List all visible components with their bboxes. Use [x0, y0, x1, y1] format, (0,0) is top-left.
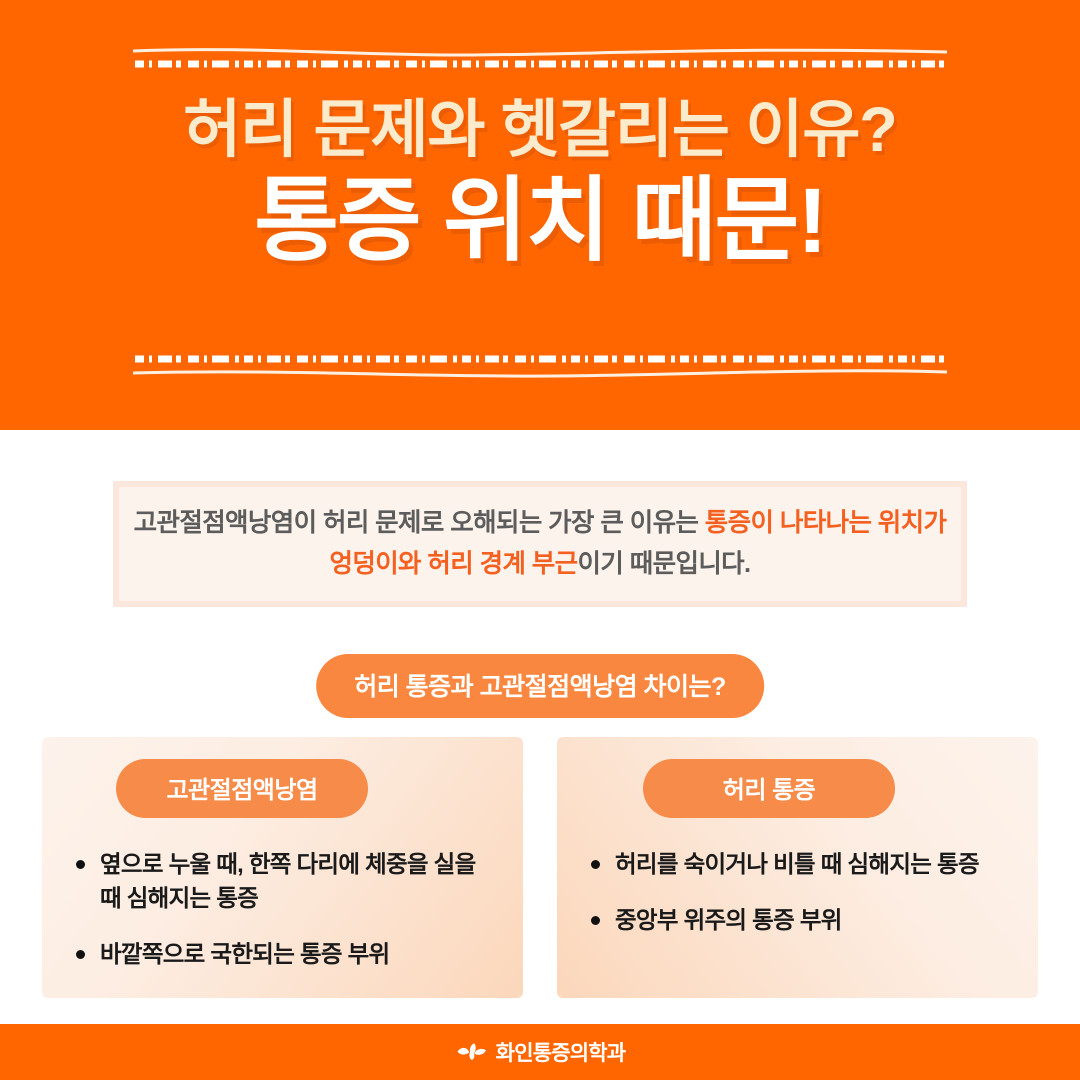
section-heading-pill: 허리 통증과 고관절점액낭염 차이는? — [316, 654, 764, 718]
list-item: 허리를 숙이거나 비틀 때 심해지는 통증 — [583, 848, 1016, 882]
card-title-pill-hip-bursitis: 고관절점액낭염 — [116, 759, 368, 818]
lead-segment-plain-2: 이기 때문입니다. — [578, 550, 751, 578]
title-block: 허리 문제와 헷갈리는 이유? 통증 위치 때문! — [0, 96, 1080, 273]
body-area: 고관절점액낭염이 허리 문제로 오해되는 가장 큰 이유는 통증이 나타나는 위… — [0, 430, 1080, 1024]
card-hip-bursitis: 고관절점액낭염 옆으로 누울 때, 한쪽 다리에 체중을 실을 때 심해지는 통… — [42, 737, 523, 998]
lead-segment-plain-1: 고관절점액낭염이 허리 문제로 오해되는 가장 큰 이유는 — [134, 509, 705, 537]
card-title-pill-back-pain: 허리 통증 — [643, 759, 895, 818]
lead-paragraph: 고관절점액낭염이 허리 문제로 오해되는 가장 큰 이유는 통증이 나타나는 위… — [119, 503, 961, 586]
list-item: 옆으로 누울 때, 한쪽 다리에 체중을 실을 때 심해지는 통증 — [68, 848, 501, 916]
card-back-pain: 허리 통증 허리를 숙이거나 비틀 때 심해지는 통증 중앙부 위주의 통증 부… — [557, 737, 1038, 998]
divider-bottom — [133, 350, 947, 380]
bullet-list-hip-bursitis: 옆으로 누울 때, 한쪽 다리에 체중을 실을 때 심해지는 통증 바깥쪽으로 … — [42, 848, 523, 971]
title-line-1: 허리 문제와 헷갈리는 이유? — [0, 96, 1080, 164]
bullet-list-back-pain: 허리를 숙이거나 비틀 때 심해지는 통증 중앙부 위주의 통증 부위 — [557, 848, 1038, 938]
list-item: 바깥쪽으로 국한되는 통증 부위 — [68, 938, 501, 972]
comparison-cards: 고관절점액낭염 옆으로 누울 때, 한쪽 다리에 체중을 실을 때 심해지는 통… — [42, 737, 1038, 998]
header-banner: 허리 문제와 헷갈리는 이유? 통증 위치 때문! — [0, 0, 1080, 430]
divider-top — [133, 44, 947, 74]
infographic-poster: 허리 문제와 헷갈리는 이유? 통증 위치 때문! 고관절점액낭염이 허리 문제… — [0, 0, 1080, 1080]
footer-bar: 화인통증의학과 — [0, 1024, 1080, 1080]
footer-brand-name: 화인통증의학과 — [496, 1037, 626, 1067]
lead-paragraph-box: 고관절점액낭염이 허리 문제로 오해되는 가장 큰 이유는 통증이 나타나는 위… — [113, 481, 967, 607]
title-line-2: 통증 위치 때문! — [0, 170, 1080, 273]
butterfly-leaf-logo-icon — [455, 1040, 489, 1064]
list-item: 중앙부 위주의 통증 부위 — [583, 904, 1016, 938]
